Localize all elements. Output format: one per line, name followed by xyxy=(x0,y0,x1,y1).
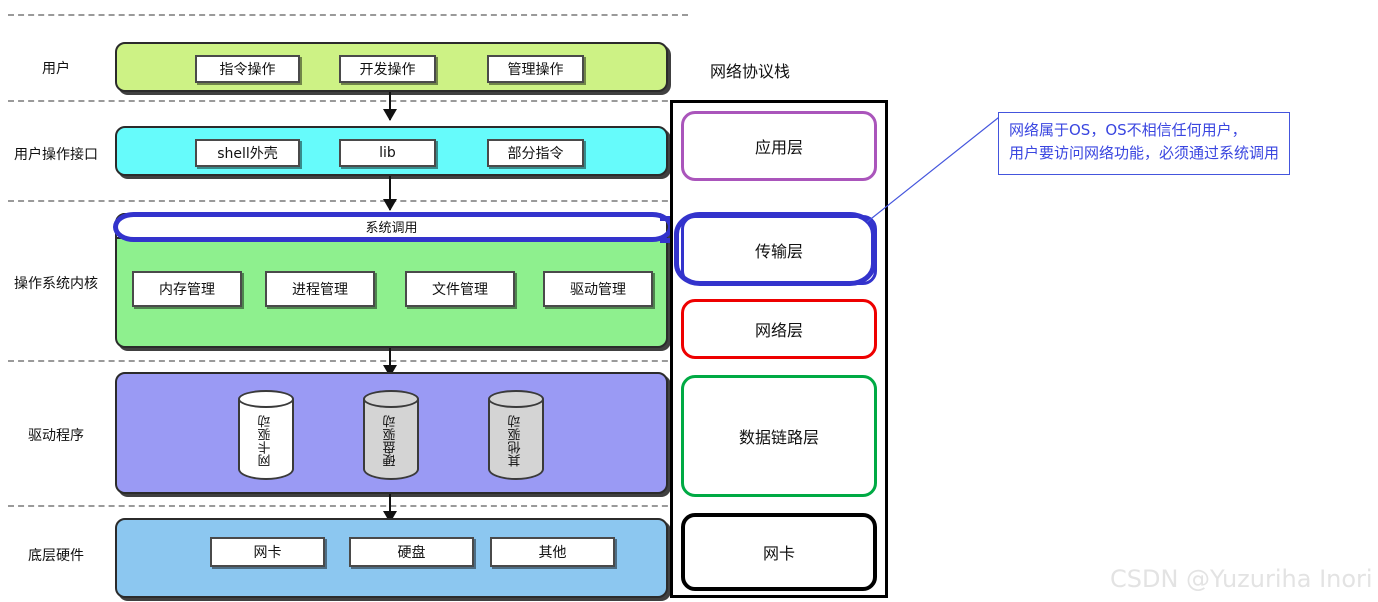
network-stack-title: 网络协议栈 xyxy=(710,58,790,82)
chip-process-management[interactable]: 进程管理 xyxy=(265,271,375,307)
tier-separator-1 xyxy=(8,100,688,102)
chip-development-ops[interactable]: 开发操作 xyxy=(339,55,436,83)
tier-separator-4 xyxy=(8,505,688,507)
cylinder-label: 网卡驱动 xyxy=(238,404,294,478)
layer-user: 指令操作 开发操作 管理操作 xyxy=(115,42,668,92)
annotation-line-1: 网络属于OS，OS不相信任何用户， xyxy=(1009,119,1279,142)
layer-user-interface: shell外壳 lib 部分指令 xyxy=(115,126,668,176)
layer-hardware: 网卡 硬盘 其他 xyxy=(115,518,668,598)
annotation-callout: 网络属于OS，OS不相信任何用户， 用户要访问网络功能，必须通过系统调用 xyxy=(998,112,1290,175)
chip-partial-commands[interactable]: 部分指令 xyxy=(487,139,584,167)
net-layer-transport[interactable]: 传输层 xyxy=(681,215,877,285)
cylinder-label: 其他驱动 xyxy=(488,404,544,478)
net-layer-application[interactable]: 应用层 xyxy=(681,111,877,181)
chip-memory-management[interactable]: 内存管理 xyxy=(132,271,242,307)
tier-label-user: 用户 xyxy=(0,58,112,78)
watermark: CSDN @Yuzuriha Inori xyxy=(1110,565,1373,593)
syscall-bar[interactable]: 系统调用 xyxy=(115,213,668,239)
tier-separator-0 xyxy=(8,14,688,16)
chip-lib[interactable]: lib xyxy=(339,139,436,167)
layer-driver: 网卡驱动 硬盘驱动 其他驱动 xyxy=(115,372,668,494)
cylinder-other-driver[interactable]: 其他驱动 xyxy=(488,390,544,480)
cylinder-label: 硬盘驱动 xyxy=(363,404,419,478)
chip-management-ops[interactable]: 管理操作 xyxy=(487,55,584,83)
diagram-canvas: 用户 用户操作接口 操作系统内核 驱动程序 底层硬件 指令操作 开发操作 管理操… xyxy=(0,0,1378,602)
network-stack-container: 应用层 传输层 网络层 数据链路层 网卡 xyxy=(670,100,888,598)
tier-label-hardware: 底层硬件 xyxy=(0,545,112,565)
flow-arrow-user-to-interface xyxy=(389,92,391,120)
chip-shell[interactable]: shell外壳 xyxy=(195,139,300,167)
chip-command-ops[interactable]: 指令操作 xyxy=(195,55,300,83)
chip-driver-management[interactable]: 驱动管理 xyxy=(543,271,653,307)
cylinder-nic-driver[interactable]: 网卡驱动 xyxy=(238,390,294,480)
chip-file-management[interactable]: 文件管理 xyxy=(405,271,515,307)
net-layer-data-link[interactable]: 数据链路层 xyxy=(681,375,877,497)
cylinder-disk-driver[interactable]: 硬盘驱动 xyxy=(363,390,419,480)
tier-label-driver: 驱动程序 xyxy=(0,425,112,445)
chip-other[interactable]: 其他 xyxy=(490,537,615,567)
flow-arrow-interface-to-kernel xyxy=(389,176,391,210)
annotation-line-2: 用户要访问网络功能，必须通过系统调用 xyxy=(1009,142,1279,165)
tier-label-interface: 用户操作接口 xyxy=(0,144,112,164)
net-layer-nic[interactable]: 网卡 xyxy=(681,513,877,591)
chip-disk[interactable]: 硬盘 xyxy=(349,537,474,567)
tier-separator-3 xyxy=(8,360,688,362)
tier-separator-2 xyxy=(8,200,688,202)
tier-label-kernel: 操作系统内核 xyxy=(0,273,112,293)
net-layer-network[interactable]: 网络层 xyxy=(681,299,877,359)
chip-nic[interactable]: 网卡 xyxy=(210,537,325,567)
